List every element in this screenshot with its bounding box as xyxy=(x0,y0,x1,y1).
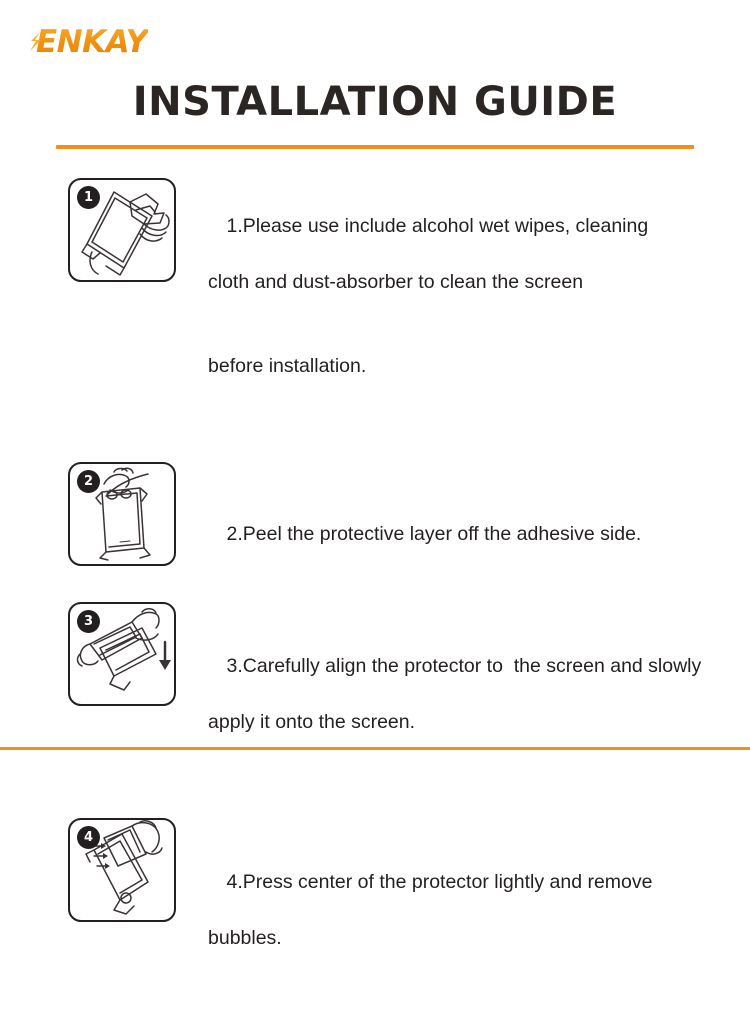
step-4-line-2: bubbles. xyxy=(194,924,730,952)
step-2-line-1: 2.Peel the protective layer off the adhe… xyxy=(227,523,642,545)
step-3-badge: 3 xyxy=(77,610,100,633)
step-3-icon-box: 3 xyxy=(68,602,176,706)
step-item-4: 4 4.Press center of the protector lightl… xyxy=(0,818,750,1008)
step-1-text: 1.Please use include alcohol wet wipes, … xyxy=(176,178,750,436)
step-2-icon-box: 2 xyxy=(68,462,176,566)
step-4-text: 4.Press center of the protector lightly … xyxy=(176,818,750,1008)
step-4-icon-box: 4 xyxy=(68,818,176,922)
page-title: INSTALLATION GUIDE xyxy=(0,78,750,126)
step-1-line-3: before installation. xyxy=(194,352,702,380)
step-3-line-1: 3.Carefully align the protector to the s… xyxy=(227,655,702,677)
step-1-line-2: cloth and dust-absorber to clean the scr… xyxy=(194,268,702,296)
step-2-badge: 2 xyxy=(77,470,100,493)
title-divider xyxy=(56,145,694,149)
brand-name: ENKAY xyxy=(36,25,148,59)
step-3-line-2: apply it onto the screen. xyxy=(194,708,730,736)
spark-icon xyxy=(29,32,42,51)
step-item-3: 3 3.Carefully align the protector to the… xyxy=(0,602,750,792)
brand-logo: ENKAY xyxy=(36,25,148,59)
step-1-badge: 1 xyxy=(77,186,100,209)
step-4-badge: 4 xyxy=(77,826,100,849)
step-3-text: 3.Carefully align the protector to the s… xyxy=(176,602,750,792)
step-1-line-1: 1.Please use include alcohol wet wipes, … xyxy=(227,215,649,237)
step-2-text: 2.Peel the protective layer off the adhe… xyxy=(176,462,750,576)
step-item-1: 1 1.Please use include alcohol wet wipes… xyxy=(0,178,750,436)
steps-list: 1 1.Please use include alcohol wet wipes… xyxy=(0,178,750,1034)
step-4-line-1: 4.Press center of the protector lightly … xyxy=(227,871,653,893)
step-item-2: 2 2.Peel the protective layer off the ad… xyxy=(0,462,750,576)
step-1-icon-box: 1 xyxy=(68,178,176,282)
